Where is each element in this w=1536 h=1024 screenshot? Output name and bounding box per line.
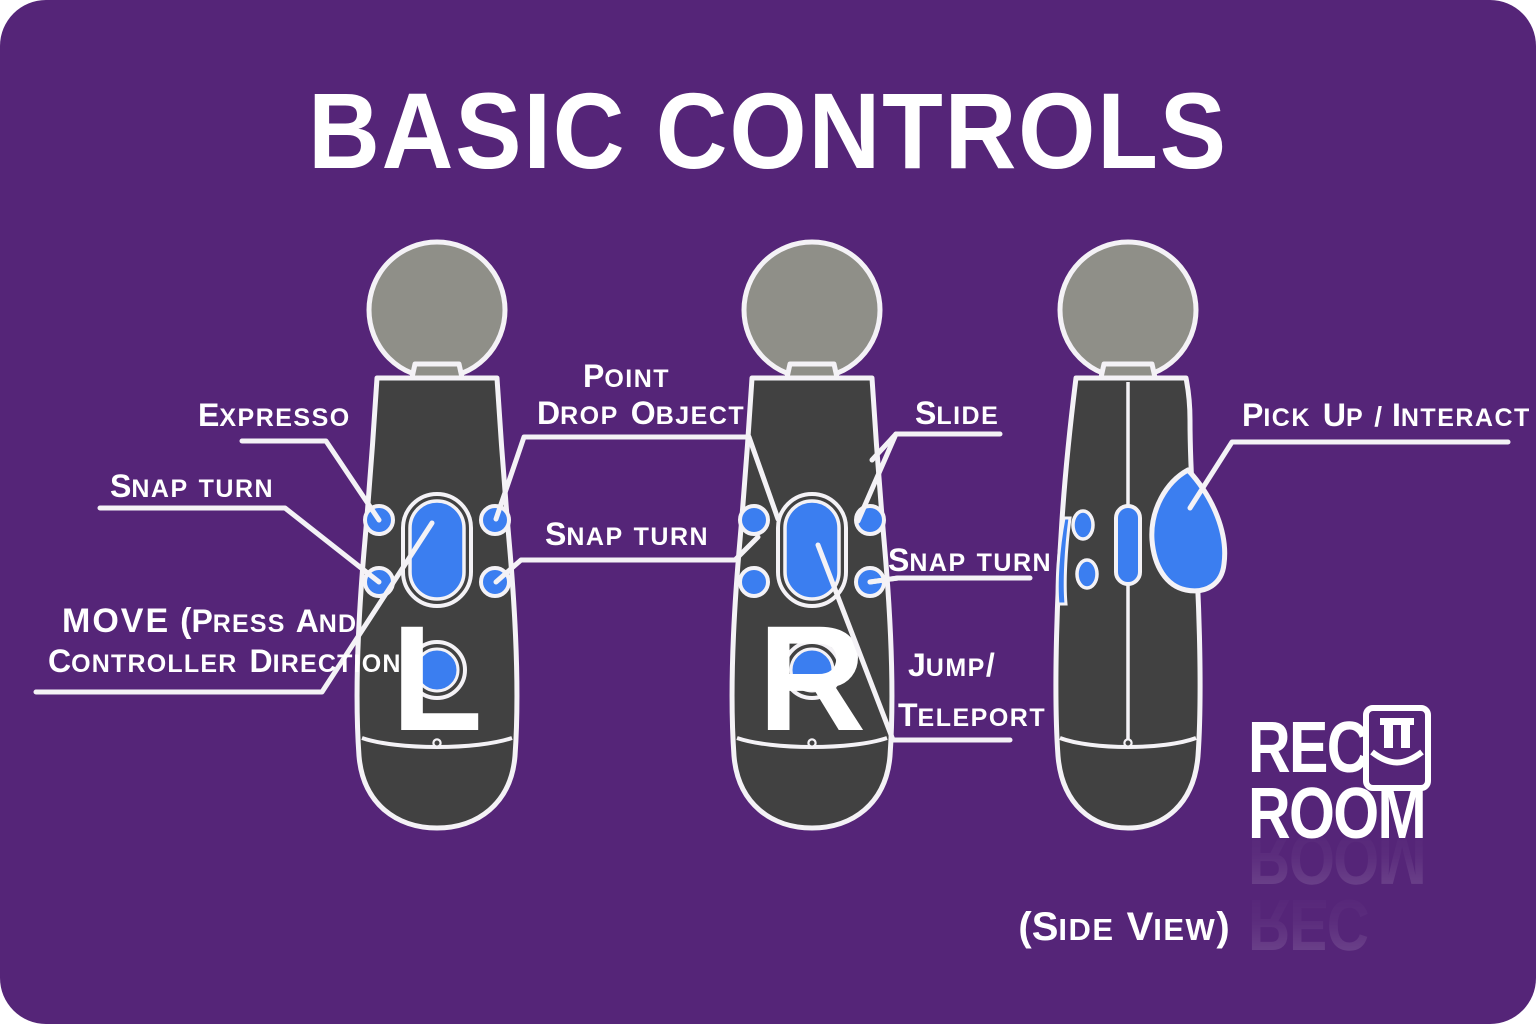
right-controller-letter: R [758, 594, 866, 762]
side-sphere [1060, 242, 1196, 378]
page-title: BASIC CONTROLS [308, 70, 1228, 191]
left-controller: L [357, 242, 517, 828]
label-expresso-rest: XPRESSO [219, 404, 350, 432]
side-button-upper[interactable] [1073, 511, 1093, 539]
logo-headset-icon [1366, 708, 1428, 788]
label-expresso-cap: E [198, 397, 219, 433]
side-move-button[interactable] [1116, 506, 1140, 584]
svg-text:MOVE(PRESSAND: MOVE(PRESSAND [62, 602, 357, 640]
side-button-lower[interactable] [1077, 560, 1097, 588]
right-controller: R [732, 242, 892, 828]
poster-root: BASIC CONTROLS L R [0, 0, 1536, 1024]
